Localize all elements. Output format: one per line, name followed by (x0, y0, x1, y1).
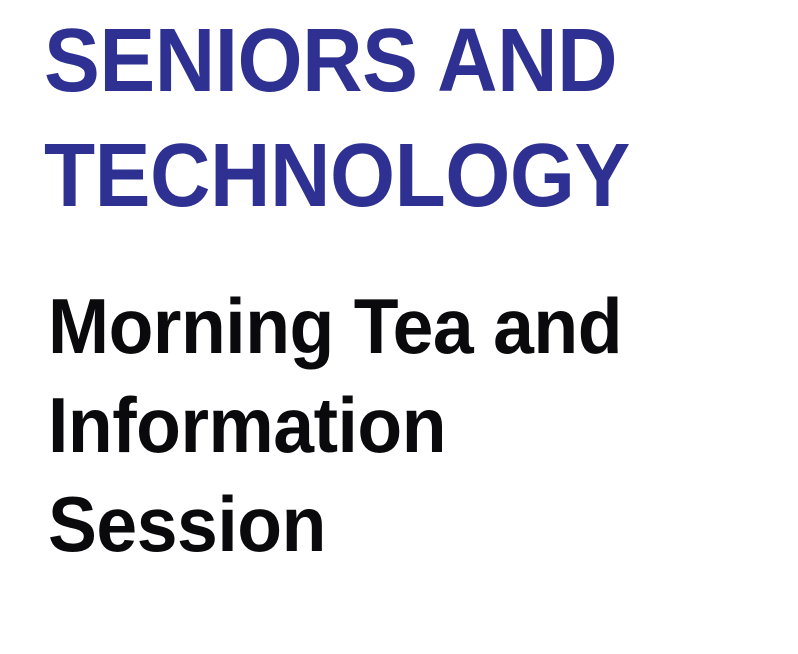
subtitle-line-2: Information (48, 376, 734, 475)
headline-block: SENIORS AND TECHNOLOGY (44, 0, 774, 234)
headline-line-2: TECHNOLOGY (44, 119, 723, 234)
subtitle-line-1: Morning Tea and (48, 277, 734, 376)
subtitle-block: Morning Tea and Information Session (48, 277, 778, 574)
poster-canvas: SENIORS AND TECHNOLOGY Morning Tea and I… (0, 0, 798, 654)
subtitle-line-3: Session (48, 475, 734, 574)
headline-line-1: SENIORS AND (44, 0, 723, 119)
